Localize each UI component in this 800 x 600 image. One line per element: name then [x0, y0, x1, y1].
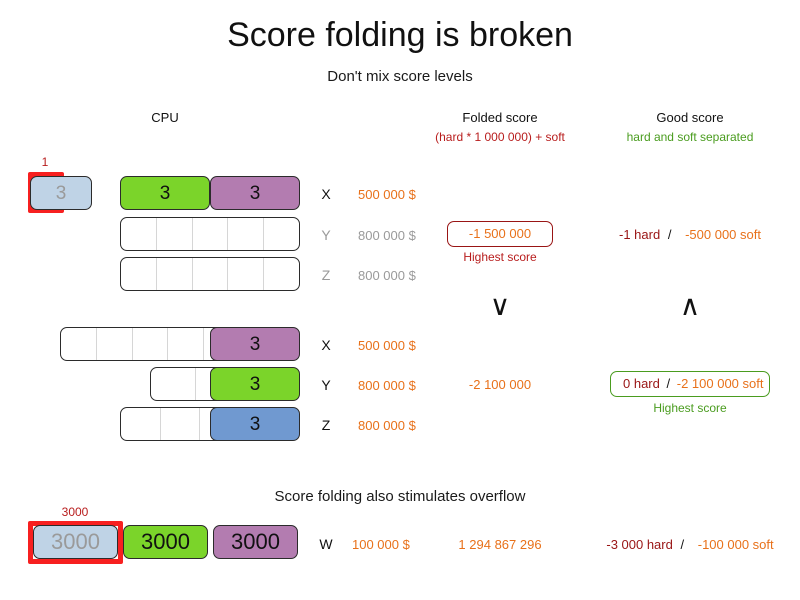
cpu-segment-value: 3: [250, 415, 261, 434]
page-title: Score folding is broken: [0, 16, 800, 55]
section-title-overflow: Score folding also stimulates overflow: [0, 488, 800, 505]
cpu-segment-green-g2y[interactable]: 3: [210, 367, 300, 401]
cpu-segment-purple-w[interactable]: 3000: [213, 525, 298, 559]
machine-cost-w: 100 000 $: [352, 537, 410, 552]
machine-label-g1x: X: [315, 186, 337, 202]
machine-label-g1z: Z: [315, 267, 337, 283]
machine-cost-g1y: 800 000 $: [358, 228, 416, 243]
cpu-track-g1z[interactable]: [120, 257, 300, 291]
track-cell: [157, 218, 193, 250]
good-score-separator-overflow: /: [680, 537, 684, 552]
cpu-segment-value: 3: [160, 184, 171, 203]
good-score-g2[interactable]: 0 hard / -2 100 000 soft: [610, 371, 770, 397]
track-cell: [61, 328, 97, 360]
folded-score-note-g1: Highest score: [447, 250, 553, 264]
folded-score-overflow: 1 294 867 296: [420, 537, 580, 552]
cpu-segment-value: 3000: [141, 531, 190, 553]
folded-score-g2: -2 100 000: [420, 377, 580, 392]
cpu-segment-value: 3: [250, 335, 261, 354]
track-cell: [193, 218, 229, 250]
good-score-hard-g2: 0 hard: [623, 376, 660, 391]
track-cell: [264, 218, 299, 250]
track-cell: [168, 328, 204, 360]
good-score-separator-g1: /: [668, 227, 672, 242]
track-cell: [264, 258, 299, 290]
cpu-segment-value: 3000: [231, 531, 280, 553]
column-header-cpu: CPU: [105, 110, 225, 125]
track-cell: [121, 218, 157, 250]
good-score-soft-g2: -2 100 000 soft: [677, 376, 764, 391]
good-score-soft-overflow: -100 000 soft: [698, 537, 774, 552]
machine-label-g1y: Y: [315, 227, 337, 243]
cpu-segment-value: 3: [250, 375, 261, 394]
track-cell: [97, 328, 133, 360]
slide-canvas: Score folding is broken Don't mix score …: [0, 0, 800, 600]
machine-cost-g1z: 800 000 $: [358, 268, 416, 283]
good-score-separator-g2: /: [667, 376, 671, 391]
cpu-segment-blue-light-g1x[interactable]: 3: [30, 176, 92, 210]
track-cell: [151, 368, 196, 400]
folded-score-g1[interactable]: -1 500 000: [447, 221, 553, 247]
good-score-hard-g1: -1 hard: [619, 227, 660, 242]
track-cell: [121, 408, 161, 440]
track-cell: [133, 328, 169, 360]
machine-label-w: W: [315, 536, 337, 552]
good-score-note-g2: Highest score: [610, 401, 770, 415]
capacity-label-group1: 1: [28, 155, 62, 169]
machine-label-g2x: X: [315, 337, 337, 353]
machine-cost-g1x: 500 000 $: [358, 187, 416, 202]
cpu-segment-green-w[interactable]: 3000: [123, 525, 208, 559]
track-cell: [228, 258, 264, 290]
capacity-label-overflow: 3000: [50, 505, 100, 519]
machine-label-g2y: Y: [315, 377, 337, 393]
machine-cost-g2z: 800 000 $: [358, 418, 416, 433]
cpu-segment-purple-g1x[interactable]: 3: [210, 176, 300, 210]
machine-cost-g2y: 800 000 $: [358, 378, 416, 393]
comparator-folded-icon: ∨: [470, 292, 530, 320]
cpu-segment-blue-light-w[interactable]: 3000: [33, 525, 118, 559]
cpu-segment-value: 3: [250, 184, 261, 203]
good-score-soft-g1: -500 000 soft: [685, 227, 761, 242]
cpu-track-g1y[interactable]: [120, 217, 300, 251]
column-subheader-folded-score: (hard * 1 000 000) + soft: [400, 130, 600, 144]
track-cell: [161, 408, 201, 440]
track-cell: [121, 258, 157, 290]
cpu-segment-value: 3: [56, 184, 67, 203]
cpu-segment-purple-g2x[interactable]: 3: [210, 327, 300, 361]
track-cell: [157, 258, 193, 290]
good-score-hard-overflow: -3 000 hard: [606, 537, 673, 552]
good-score-overflow: -3 000 hard / -100 000 soft: [590, 537, 790, 552]
track-cell: [193, 258, 229, 290]
machine-label-g2z: Z: [315, 417, 337, 433]
cpu-segment-blue-g2z[interactable]: 3: [210, 407, 300, 441]
page-subtitle: Don't mix score levels: [0, 68, 800, 85]
column-subheader-good-score: hard and soft separated: [595, 130, 785, 144]
column-header-folded-score: Folded score: [410, 110, 590, 125]
column-header-good-score: Good score: [600, 110, 780, 125]
track-cell: [228, 218, 264, 250]
cpu-segment-green-g1x[interactable]: 3: [120, 176, 210, 210]
comparator-good-icon: ∧: [660, 292, 720, 320]
machine-cost-g2x: 500 000 $: [358, 338, 416, 353]
cpu-segment-value: 3000: [51, 531, 100, 553]
good-score-g1: -1 hard / -500 000 soft: [600, 227, 780, 242]
